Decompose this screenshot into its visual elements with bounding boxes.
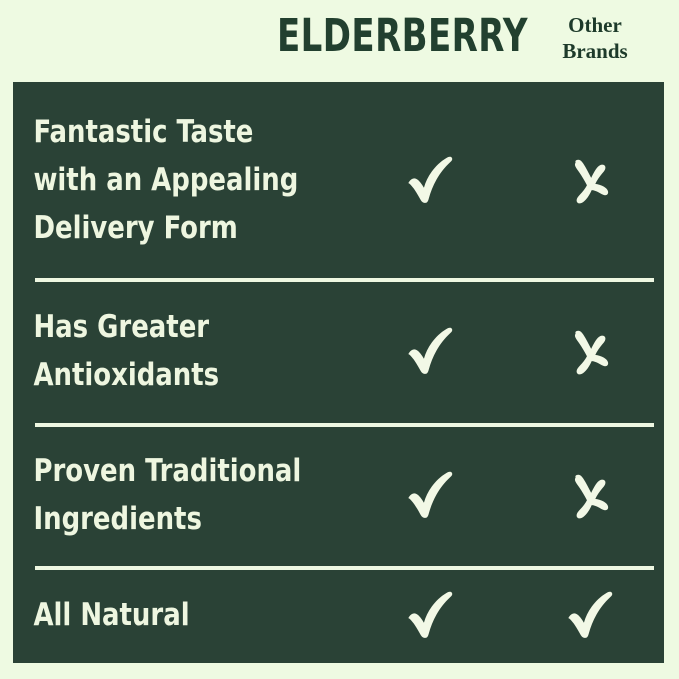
check-icon xyxy=(562,586,620,644)
other-brands-title-line-1: Other xyxy=(568,13,622,37)
cross-icon xyxy=(564,324,618,378)
row-divider xyxy=(35,278,654,282)
feature-label: Proven Traditional Ingredients xyxy=(13,447,320,543)
row-divider xyxy=(35,423,654,427)
feature-label: Fantastic Taste with an Appealing Delive… xyxy=(13,108,320,252)
check-icon xyxy=(402,466,460,524)
check-icon xyxy=(402,586,460,644)
brand-mark-cell xyxy=(343,278,518,423)
check-icon xyxy=(402,151,460,209)
other-mark-cell xyxy=(518,278,664,423)
comparison-chart: ELDERBERRY Other Brands Fantastic Taste … xyxy=(0,0,679,679)
cross-icon xyxy=(564,153,618,207)
brand-mark-cell xyxy=(343,423,518,566)
brand-mark-cell xyxy=(343,566,518,663)
other-mark-cell xyxy=(518,566,664,663)
table-row: Proven Traditional Ingredients xyxy=(13,423,664,566)
other-mark-cell xyxy=(518,423,664,566)
comparison-table-body: Fantastic Taste with an Appealing Delive… xyxy=(13,82,664,663)
other-brands-column-title: Other Brands xyxy=(530,12,660,64)
check-icon xyxy=(402,322,460,380)
other-brands-title-line-2: Brands xyxy=(562,39,627,63)
chart-header: ELDERBERRY Other Brands xyxy=(0,0,679,82)
table-row: Fantastic Taste with an Appealing Delive… xyxy=(13,82,664,278)
table-row: All Natural xyxy=(13,566,664,663)
feature-label: Has Greater Antioxidants xyxy=(13,303,320,399)
cross-icon xyxy=(564,468,618,522)
feature-label: All Natural xyxy=(13,591,320,639)
comparison-table-card: Fantastic Taste with an Appealing Delive… xyxy=(13,82,664,663)
brand-mark-cell xyxy=(343,82,518,278)
row-divider xyxy=(35,566,654,570)
other-mark-cell xyxy=(518,82,664,278)
table-row: Has Greater Antioxidants xyxy=(13,278,664,423)
brand-column-title: ELDERBERRY xyxy=(277,12,508,60)
